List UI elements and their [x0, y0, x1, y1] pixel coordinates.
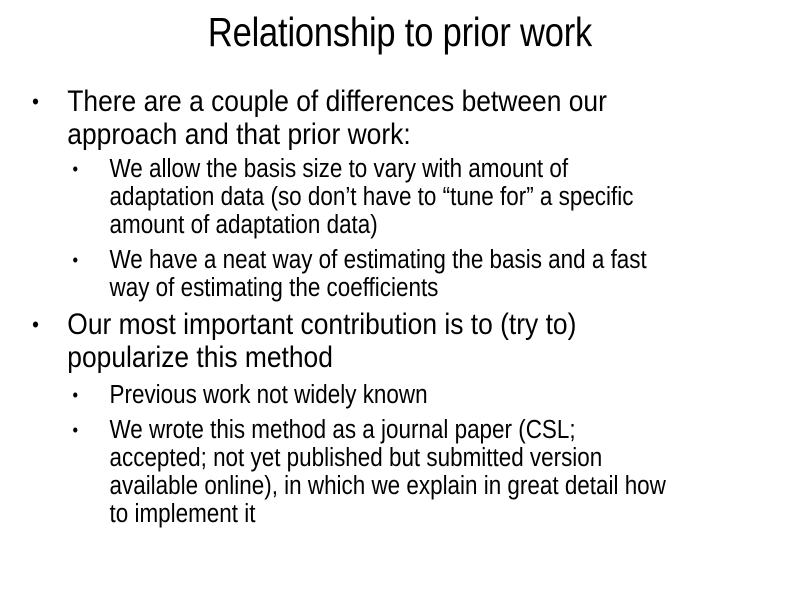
bullet-item-level2: • We allow the basis size to vary with a…	[18, 155, 694, 239]
bullet-item-level2: • We have a neat way of estimating the b…	[18, 246, 694, 302]
bullet-marker-icon: •	[73, 246, 110, 274]
bullet-marker-icon: •	[32, 86, 67, 119]
presentation-slide: Relationship to prior work • There are a…	[0, 0, 800, 599]
bullet-text: We have a neat way of estimating the bas…	[110, 246, 678, 302]
bullet-item-level1: • Our most important contribution is to …	[18, 309, 694, 374]
bullet-item-level2: • We wrote this method as a journal pape…	[18, 416, 694, 528]
bullet-text: Previous work not widely known	[110, 381, 678, 409]
bullet-text: We allow the basis size to vary with amo…	[110, 155, 678, 239]
bullet-item-level1: • There are a couple of differences betw…	[18, 86, 694, 151]
bullet-marker-icon: •	[73, 155, 110, 183]
bullet-text: Our most important contribution is to (t…	[67, 309, 694, 374]
slide-body-content: • There are a couple of differences betw…	[18, 86, 786, 535]
bullet-text: We wrote this method as a journal paper …	[110, 416, 678, 528]
slide-title: Relationship to prior work	[64, 8, 736, 56]
bullet-marker-icon: •	[32, 309, 67, 342]
bullet-text: There are a couple of differences betwee…	[67, 86, 694, 151]
bullet-item-level2: • Previous work not widely known	[18, 381, 694, 409]
bullet-marker-icon: •	[73, 381, 110, 409]
bullet-marker-icon: •	[73, 416, 110, 444]
